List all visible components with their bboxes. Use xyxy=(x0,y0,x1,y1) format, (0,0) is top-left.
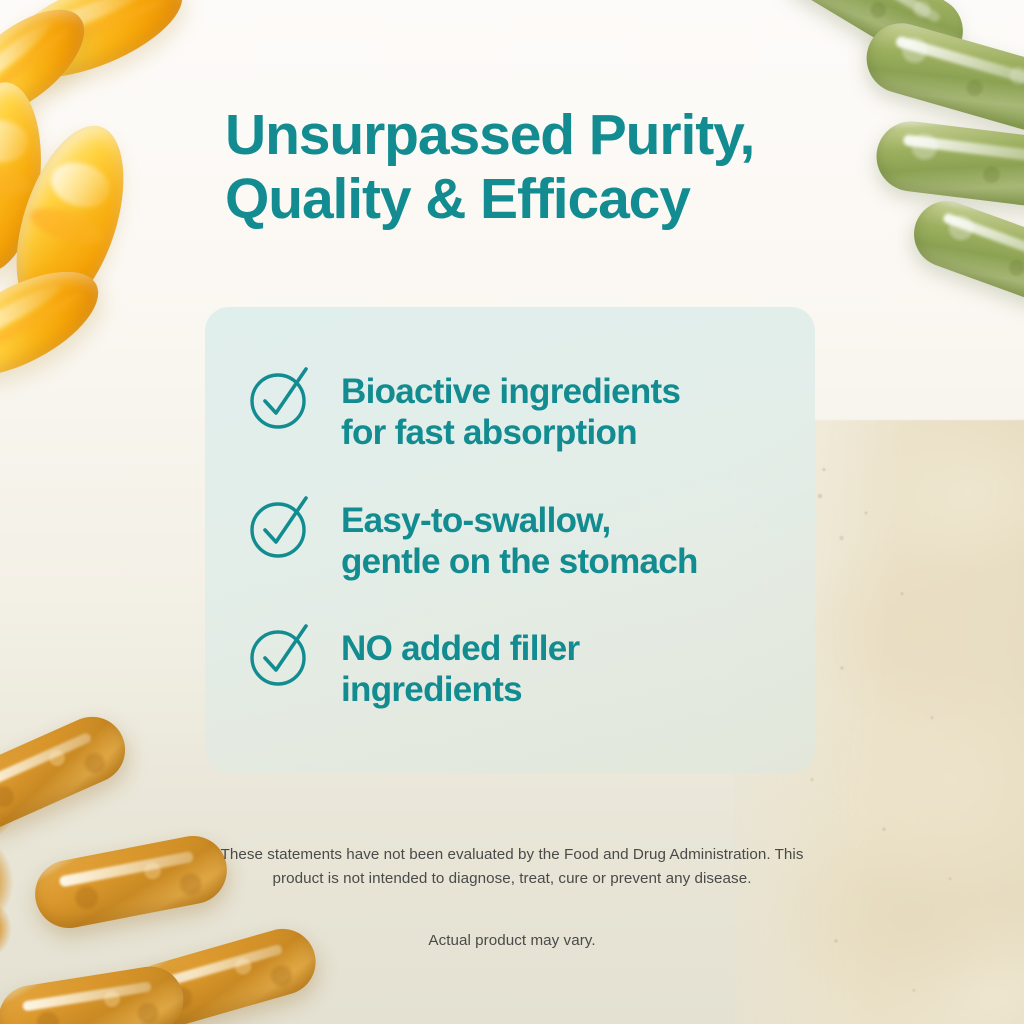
circle-check-icon xyxy=(245,361,319,435)
headline-line-2: Quality & Efficacy xyxy=(225,167,690,231)
benefit-line-1: NO added filler xyxy=(341,629,579,668)
benefit-line-1: Easy-to-swallow, xyxy=(341,501,611,540)
page-title: Unsurpassed Purity, Quality & Efficacy xyxy=(225,103,825,232)
benefit-item-easy-swallow: Easy-to-swallow, gentle on the stomach xyxy=(245,494,775,583)
benefit-line-2: for fast absorption xyxy=(341,413,637,452)
benefit-text: NO added filler ingredients xyxy=(341,622,579,711)
benefit-line-2: ingredients xyxy=(341,670,522,709)
benefit-line-1: Bioactive ingredients xyxy=(341,372,680,411)
benefit-text: Bioactive ingredients for fast absorptio… xyxy=(341,365,680,454)
fda-disclaimer: These statements have not been evaluated… xyxy=(212,843,812,890)
benefit-item-bioactive: Bioactive ingredients for fast absorptio… xyxy=(245,365,775,454)
benefit-list-card: Bioactive ingredients for fast absorptio… xyxy=(205,307,815,773)
benefit-item-no-fillers: NO added filler ingredients xyxy=(245,622,775,711)
headline-line-1: Unsurpassed Purity, xyxy=(225,103,754,167)
product-variance-note: Actual product may vary. xyxy=(212,932,812,949)
circle-check-icon xyxy=(245,618,319,692)
promotional-graphic: Unsurpassed Purity, Quality & Efficacy B… xyxy=(0,0,1024,1024)
benefit-text: Easy-to-swallow, gentle on the stomach xyxy=(341,494,698,583)
circle-check-icon xyxy=(245,490,319,564)
benefit-line-2: gentle on the stomach xyxy=(341,542,698,581)
